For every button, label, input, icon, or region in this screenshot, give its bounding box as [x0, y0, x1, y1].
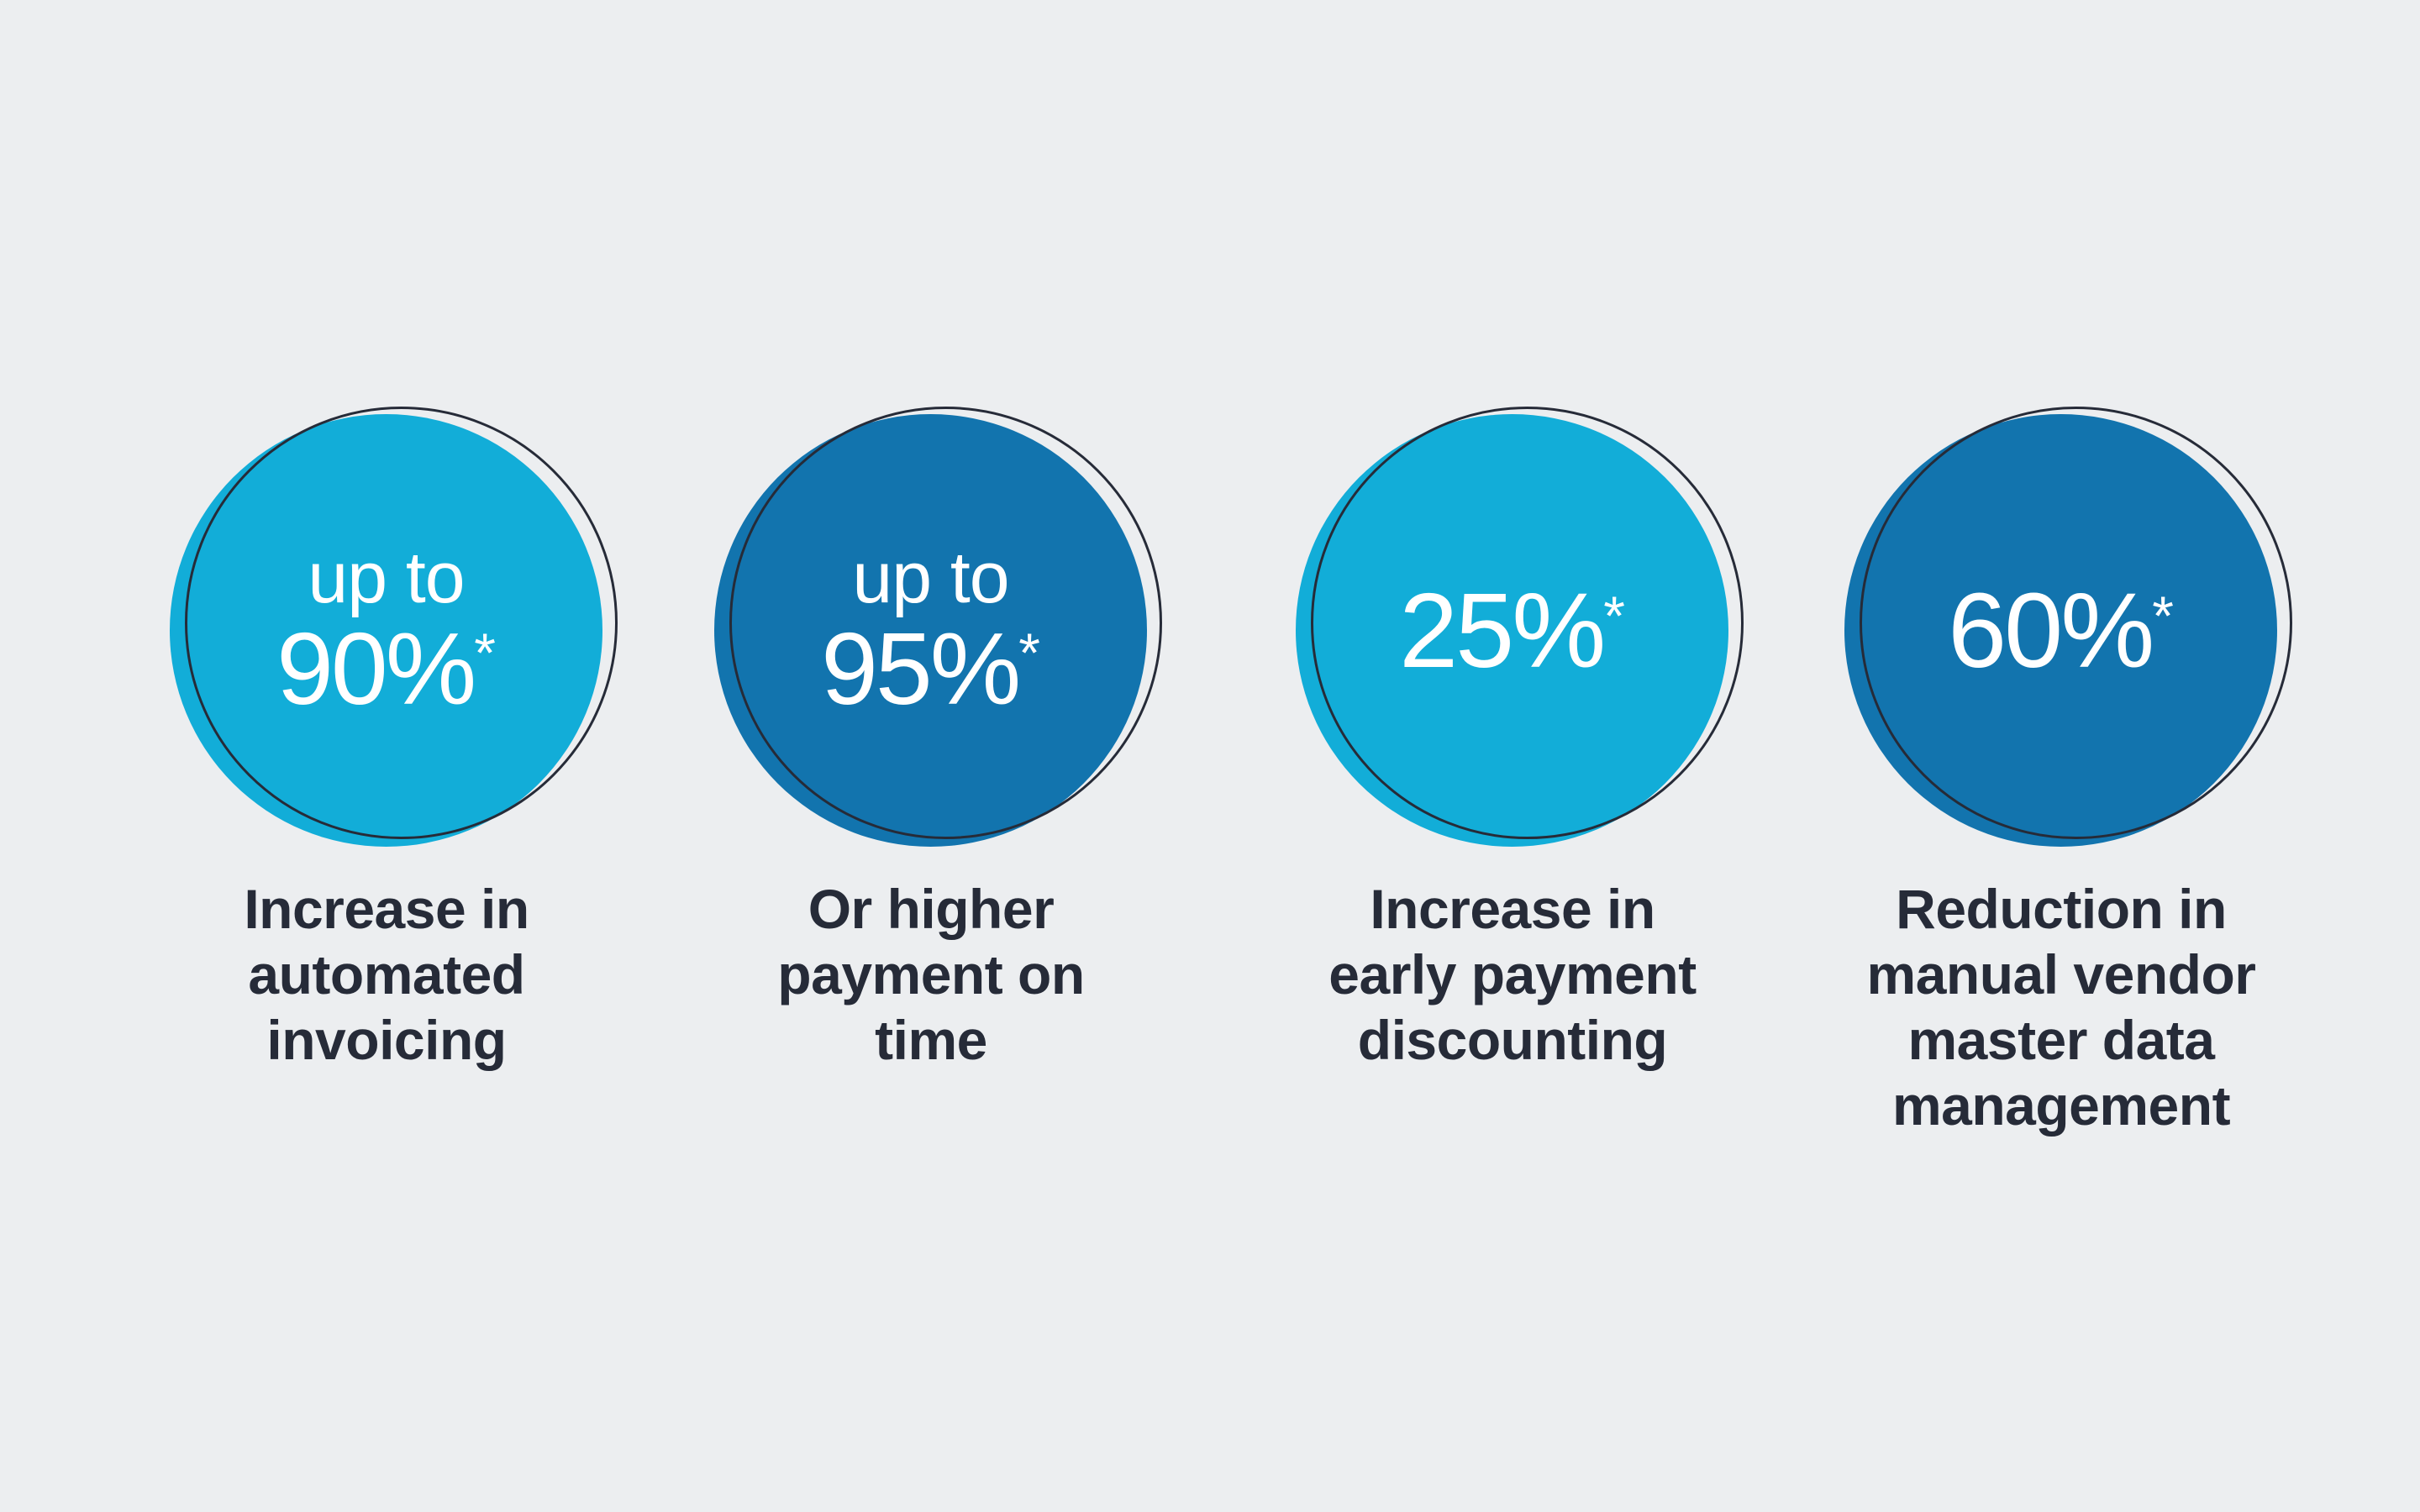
circle-disc: 60%* — [1844, 414, 2277, 847]
caption-line: time — [696, 1008, 1166, 1074]
stat-caption: Increase in early payment discounting — [1277, 877, 1748, 1074]
caption-line: payment on — [696, 942, 1166, 1008]
stat-card-automated-invoicing: up to 90%* Increase in automated invoici… — [151, 407, 622, 1074]
caption-line: Increase in — [151, 877, 622, 942]
circle-disc: 25%* — [1296, 414, 1728, 847]
caption-line: Or higher — [696, 877, 1166, 942]
stat-number: 90% — [276, 612, 474, 726]
stat-prefix: up to — [714, 542, 1147, 614]
caption-line: Increase in — [1277, 877, 1748, 942]
stat-circle-vendor-master-data: 60%* — [1826, 407, 2296, 852]
caption-line: invoicing — [151, 1008, 622, 1074]
caption-line: automated — [151, 942, 622, 1008]
circle-value-block: 25%* — [1296, 578, 1728, 684]
circle-value-block: 60%* — [1844, 578, 2277, 684]
footnote-asterisk: * — [474, 622, 496, 684]
stat-caption: Or higher payment on time — [696, 877, 1166, 1074]
stat-circle-automated-invoicing: up to 90%* — [151, 407, 622, 852]
stat-prefix: up to — [170, 542, 602, 614]
circle-value-block: up to 90%* — [170, 542, 602, 720]
stat-card-payment-on-time: up to 95%* Or higher payment on time — [696, 407, 1166, 1074]
caption-line: manual vendor — [1826, 942, 2296, 1008]
caption-line: discounting — [1277, 1008, 1748, 1074]
stat-value: 90%* — [170, 617, 602, 720]
footnote-asterisk: * — [1603, 585, 1625, 647]
caption-line: management — [1826, 1074, 2296, 1139]
stat-value: 95%* — [714, 617, 1147, 720]
stat-number: 25% — [1399, 571, 1603, 690]
stat-circle-payment-on-time: up to 95%* — [696, 407, 1166, 852]
stat-value: 25%* — [1296, 578, 1728, 684]
circle-value-block: up to 95%* — [714, 542, 1147, 720]
stat-caption: Increase in automated invoicing — [151, 877, 622, 1074]
stat-caption: Reduction in manual vendor master data m… — [1826, 877, 2296, 1139]
infographic-canvas: up to 90%* Increase in automated invoici… — [0, 0, 2420, 1512]
caption-line: early payment — [1277, 942, 1748, 1008]
caption-line: Reduction in — [1826, 877, 2296, 942]
stat-number: 60% — [1948, 571, 2152, 690]
circle-disc: up to 90%* — [170, 414, 602, 847]
stat-card-early-payment-discounting: 25%* Increase in early payment discounti… — [1277, 407, 1748, 1074]
caption-line: master data — [1826, 1008, 2296, 1074]
footnote-asterisk: * — [2152, 585, 2174, 647]
footnote-asterisk: * — [1018, 622, 1040, 684]
stat-card-vendor-master-data: 60%* Reduction in manual vendor master d… — [1826, 407, 2296, 1139]
circle-disc: up to 95%* — [714, 414, 1147, 847]
stat-number: 95% — [821, 612, 1018, 726]
stat-value: 60%* — [1844, 578, 2277, 684]
stat-circle-early-payment-discounting: 25%* — [1277, 407, 1748, 852]
